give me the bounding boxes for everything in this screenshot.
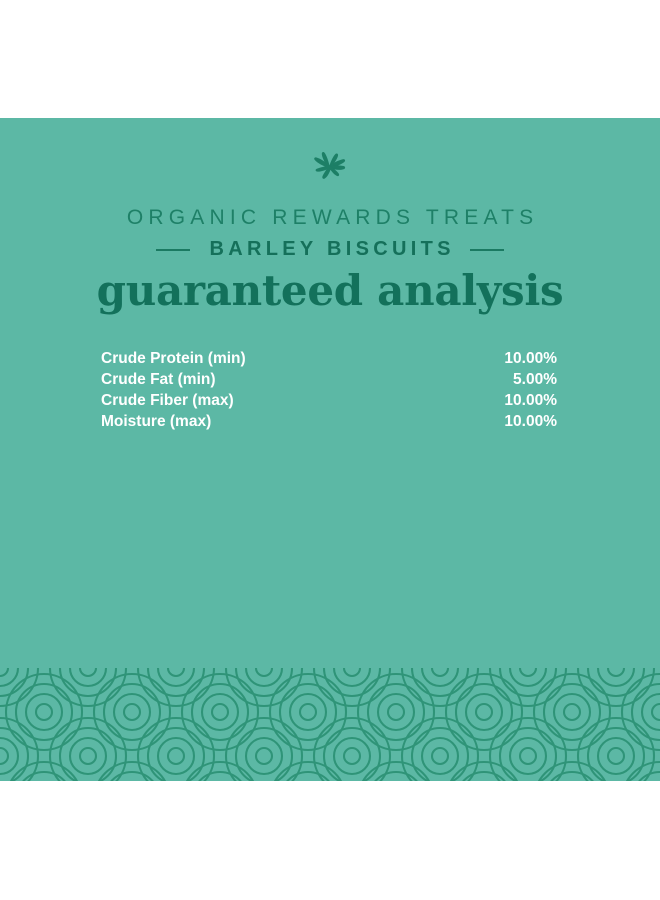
circle-pattern-graphic — [0, 668, 660, 781]
table-row: Moisture (max) 10.00% — [101, 413, 557, 434]
nutrient-label: Crude Fiber (max) — [101, 392, 234, 410]
product-line-text: BARLEY BISCUITS — [205, 238, 455, 261]
nutrient-value: 5.00% — [513, 371, 557, 389]
page-title: guaranteed analysis — [0, 266, 660, 315]
nutrient-label: Moisture (max) — [101, 413, 211, 431]
nutrient-value: 10.00% — [504, 413, 557, 431]
rule-right — [470, 249, 504, 251]
table-row: Crude Protein (min) 10.00% — [101, 350, 557, 371]
table-row: Crude Fat (min) 5.00% — [101, 371, 557, 392]
nutrient-label: Crude Protein (min) — [101, 350, 246, 368]
eyebrow-text: ORGANIC REWARDS TREATS — [0, 206, 660, 230]
table-row: Crude Fiber (max) 10.00% — [101, 392, 557, 413]
nutrient-value: 10.00% — [504, 392, 557, 410]
guaranteed-analysis-panel: ORGANIC REWARDS TREATS BARLEY BISCUITS g… — [0, 118, 660, 781]
concentric-circles-pattern — [0, 668, 660, 781]
leaf-sprig-icon — [306, 148, 354, 182]
guaranteed-analysis-table: Crude Protein (min) 10.00% Crude Fat (mi… — [101, 350, 557, 434]
nutrient-label: Crude Fat (min) — [101, 371, 216, 389]
nutrient-value: 10.00% — [504, 350, 557, 368]
leaf-ornament — [0, 148, 660, 182]
rule-left — [156, 249, 190, 251]
product-line-row: BARLEY BISCUITS — [0, 238, 660, 261]
